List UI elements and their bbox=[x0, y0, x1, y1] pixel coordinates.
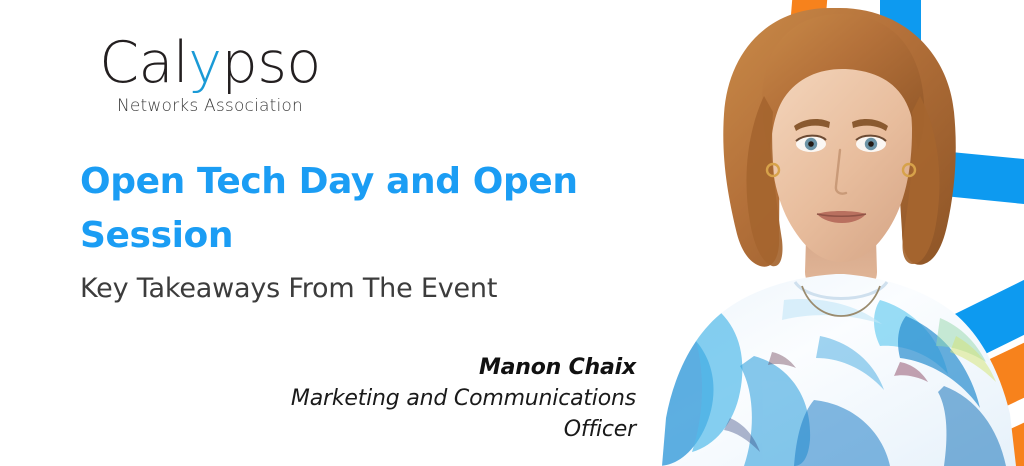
speaker-role-line-1: Marketing and Communications bbox=[236, 383, 636, 414]
speaker-credit: Manon Chaix Marketing and Communications… bbox=[236, 353, 636, 445]
page-subtitle: Key Takeaways From The Event bbox=[80, 271, 620, 307]
page-title: Open Tech Day and Open Session bbox=[80, 155, 620, 263]
logo-subtitle: Networks Association bbox=[80, 96, 340, 116]
presentation-banner: Calypso Networks Association Open Tech D… bbox=[0, 0, 1024, 466]
speaker-role-line-2: Officer bbox=[236, 414, 636, 445]
calypso-logo[interactable]: Calypso Networks Association bbox=[80, 34, 340, 116]
logo-wordmark: Calypso bbox=[80, 34, 340, 92]
speaker-name: Manon Chaix bbox=[236, 353, 636, 383]
logo-word-part1: Cal bbox=[99, 30, 188, 96]
headline-block: Open Tech Day and Open Session Key Takea… bbox=[80, 155, 620, 307]
portrait-pupil-left bbox=[808, 141, 814, 147]
portrait-pupil-right bbox=[868, 141, 874, 147]
speaker-portrait bbox=[644, 0, 1024, 466]
logo-word-part2: pso bbox=[222, 30, 321, 96]
logo-accent-letter: y bbox=[188, 30, 221, 96]
